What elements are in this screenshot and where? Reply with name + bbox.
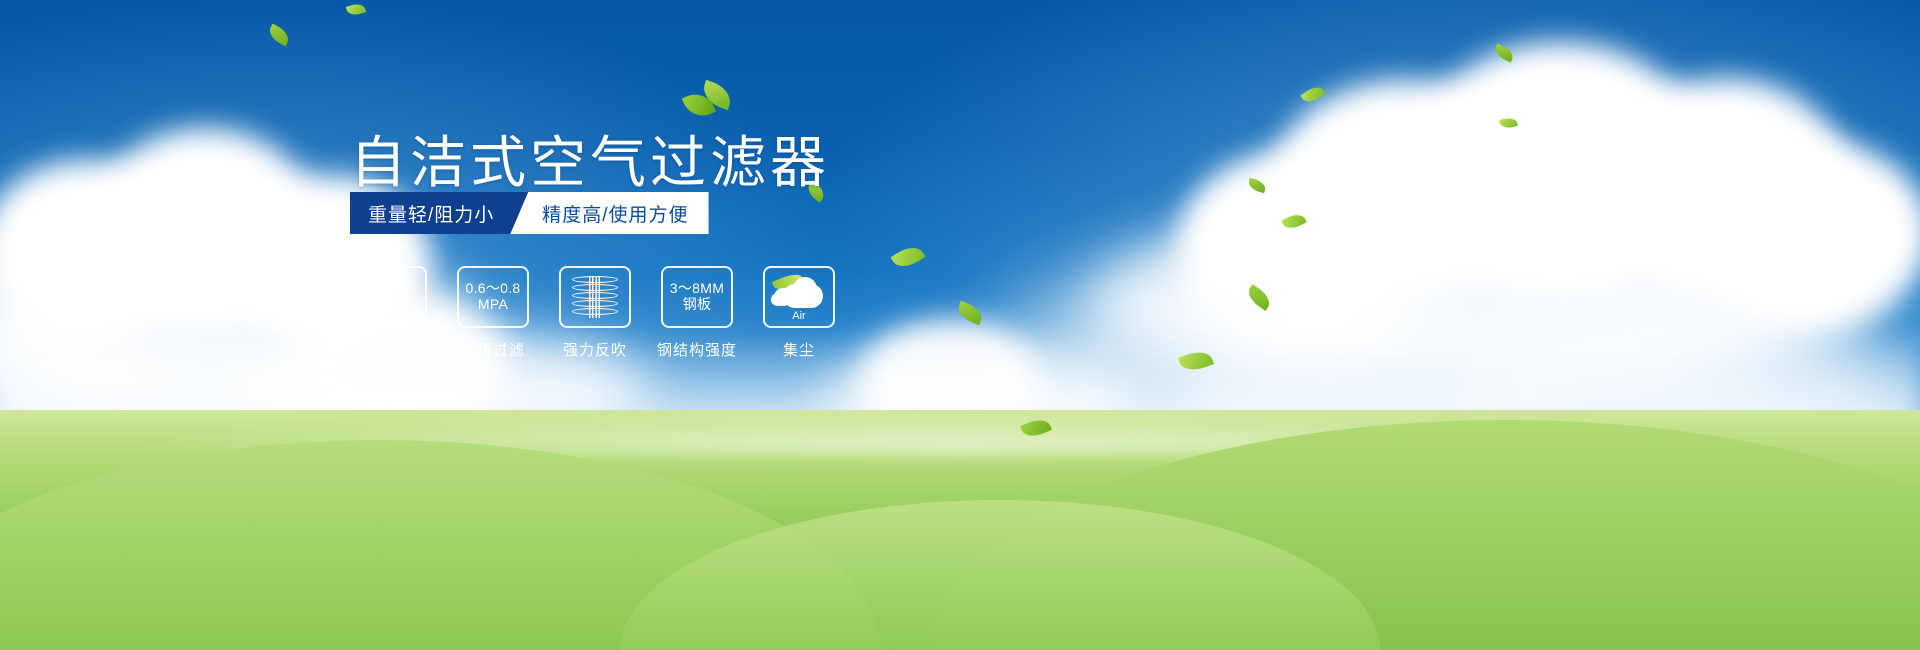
feature-caption-blowback: 强力反吹 <box>563 339 627 360</box>
dial-gauge-icon: NO OFF <box>365 274 417 320</box>
feature-caption-steel-strength: 钢结构强度 <box>657 339 737 360</box>
feature-box-steel-strength: 3～8MM 钢板 <box>661 266 733 328</box>
feature-item-filtration: 0.6～0.8 MPA 二级过滤 <box>454 266 532 360</box>
dial-min-label: NO <box>363 296 373 303</box>
cloud-air-icon: Air <box>771 274 827 320</box>
steel-value-line2: 钢板 <box>683 297 712 313</box>
pressure-value-line1: 0.6～0.8 <box>465 281 520 297</box>
badge-precision-convenience: 精度高/使用方便 <box>510 192 708 234</box>
pressure-value-line2: MPA <box>478 297 508 313</box>
feature-caption-dust-collection: 集尘 <box>783 339 815 360</box>
feature-box-controller: NO OFF <box>355 266 427 328</box>
feature-item-blowback: 强力反吹 <box>556 266 634 360</box>
feature-box-blowback <box>559 266 631 328</box>
air-label: Air <box>771 310 827 322</box>
banner-content: 自洁式空气过滤器 重量轻/阻力小 精度高/使用方便 NO OFF 控制仪 <box>0 0 1920 650</box>
banner-title: 自洁式空气过滤器 <box>350 118 830 199</box>
dial-needle-icon <box>388 280 394 306</box>
coil-core-icon <box>589 276 601 318</box>
feature-item-steel-strength: 3～8MM 钢板 钢结构强度 <box>658 266 736 360</box>
feature-list: NO OFF 控制仪 0.6～0.8 MPA 二级过滤 <box>352 266 838 360</box>
dial-max-label: OFF <box>407 314 420 321</box>
feature-box-filtration: 0.6～0.8 MPA <box>457 266 529 328</box>
badge-group: 重量轻/阻力小 精度高/使用方便 <box>350 192 709 234</box>
coil-blowback-icon <box>572 274 618 320</box>
feature-item-controller: NO OFF 控制仪 <box>352 266 430 360</box>
hero-banner: 自洁式空气过滤器 重量轻/阻力小 精度高/使用方便 NO OFF 控制仪 <box>0 0 1920 650</box>
feature-caption-filtration: 二级过滤 <box>461 339 525 360</box>
feature-box-dust-collection: Air <box>763 266 835 328</box>
badge-weight-resistance: 重量轻/阻力小 <box>350 192 528 234</box>
feature-item-dust-collection: Air 集尘 <box>760 266 838 360</box>
feature-caption-controller: 控制仪 <box>367 339 415 360</box>
steel-value-line1: 3～8MM <box>670 281 724 297</box>
